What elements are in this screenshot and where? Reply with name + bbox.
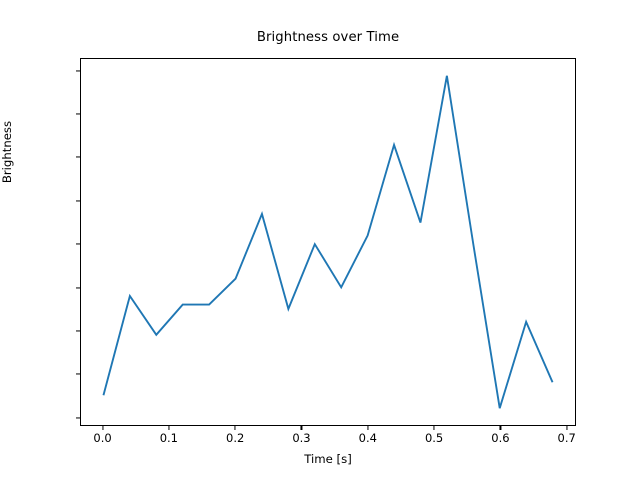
x-tick-label: 0.2	[226, 431, 244, 445]
x-tick-mark	[500, 426, 501, 430]
x-tick-mark	[235, 426, 236, 430]
x-tick-mark	[168, 426, 169, 430]
x-tick-label: 0.1	[160, 431, 178, 445]
figure-canvas: Brightness over Time Brightness Time [s]…	[0, 0, 640, 480]
x-tick-label: 0.0	[93, 431, 111, 445]
x-axis-label: Time [s]	[80, 452, 576, 466]
x-tick-mark	[301, 426, 302, 430]
chart-title: Brightness over Time	[80, 30, 576, 45]
y-axis-label: Brightness	[0, 62, 14, 242]
line-series-svg	[81, 59, 575, 425]
x-tick-label: 0.7	[558, 431, 576, 445]
x-tick-mark	[566, 426, 567, 430]
x-tick-mark	[434, 426, 435, 430]
x-tick-label: 0.4	[359, 431, 377, 445]
x-tick-mark	[102, 426, 103, 430]
brightness-line-series	[103, 76, 552, 408]
x-tick-label: 0.6	[491, 431, 509, 445]
x-tick-label: 0.3	[292, 431, 310, 445]
x-tick-label: 0.5	[425, 431, 443, 445]
x-tick-mark	[367, 426, 368, 430]
plot-area	[80, 58, 576, 426]
